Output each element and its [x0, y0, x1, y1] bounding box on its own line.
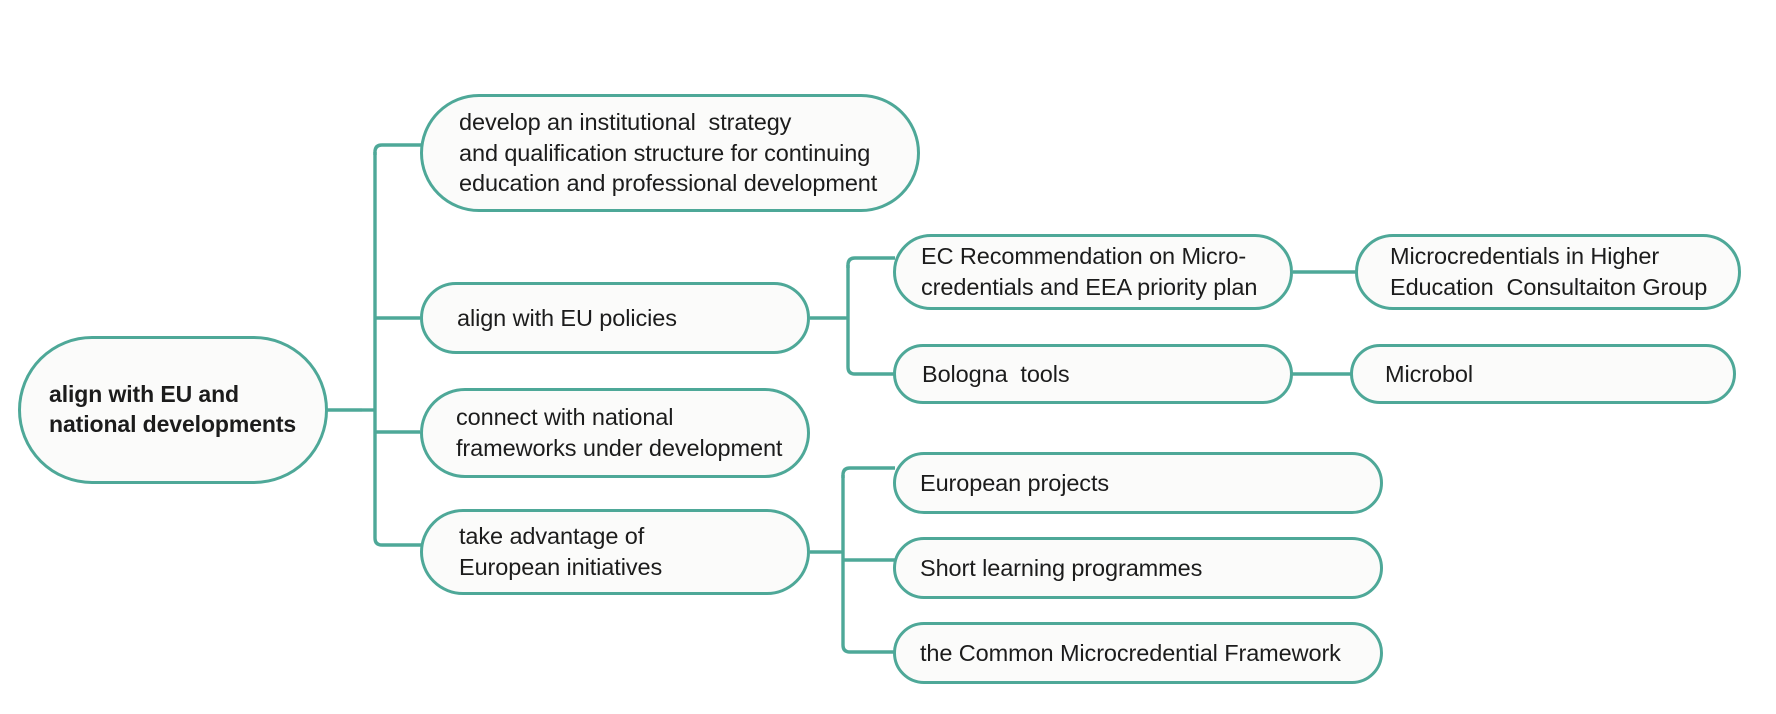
edge-eupolicies-to-bologna [848, 265, 895, 374]
edge-spine-to-initiatives [375, 152, 424, 545]
edge-spine-to-strategy-top [375, 145, 424, 155]
node-microbol-label: Microbol [1385, 359, 1473, 390]
node-root[interactable]: align with EU and national developments [18, 336, 328, 484]
node-common-microcredential-framework-label: the Common Microcredential Framework [920, 638, 1341, 669]
node-short-learning-programmes[interactable]: Short learning programmes [893, 537, 1383, 599]
node-european-projects[interactable]: European projects [893, 452, 1383, 514]
node-align-eu-policies-label: align with EU policies [457, 303, 677, 334]
edge-initiatives-to-cmf [843, 475, 895, 652]
node-microbol[interactable]: Microbol [1350, 344, 1736, 404]
node-root-label: align with EU and national developments [49, 380, 296, 440]
node-national-frameworks-label: connect with national frameworks under d… [456, 402, 782, 463]
node-ec-recommendation-label: EC Recommendation on Micro- credentials … [921, 241, 1257, 302]
node-short-learning-programmes-label: Short learning programmes [920, 553, 1202, 584]
mindmap-canvas: align with EU and national developments … [0, 0, 1776, 714]
node-european-projects-label: European projects [920, 468, 1109, 499]
edge-initiatives-to-projects [843, 468, 895, 478]
node-bologna-tools[interactable]: Bologna tools [893, 344, 1293, 404]
edge-eupolicies-to-ec [848, 258, 895, 268]
node-national-frameworks[interactable]: connect with national frameworks under d… [420, 388, 810, 478]
node-common-microcredential-framework[interactable]: the Common Microcredential Framework [893, 622, 1383, 684]
node-mche-consultation-group-label: Microcredentials in Higher Education Con… [1390, 241, 1707, 302]
node-bologna-tools-label: Bologna tools [922, 359, 1070, 390]
node-european-initiatives-label: take advantage of European initiatives [459, 521, 662, 582]
node-align-eu-policies[interactable]: align with EU policies [420, 282, 810, 354]
node-institutional-strategy[interactable]: develop an institutional strategy and qu… [420, 94, 920, 212]
node-ec-recommendation[interactable]: EC Recommendation on Micro- credentials … [893, 234, 1293, 310]
node-european-initiatives[interactable]: take advantage of European initiatives [420, 509, 810, 595]
node-institutional-strategy-label: develop an institutional strategy and qu… [459, 107, 877, 199]
node-mche-consultation-group[interactable]: Microcredentials in Higher Education Con… [1355, 234, 1741, 310]
